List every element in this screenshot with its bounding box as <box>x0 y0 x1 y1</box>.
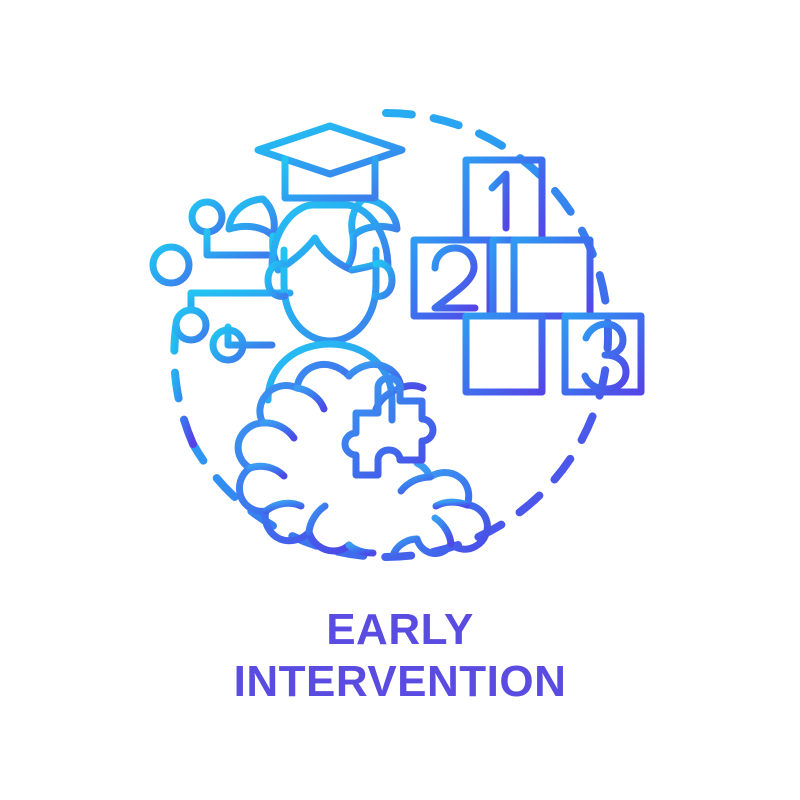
glyph-plus <box>480 330 528 378</box>
student-figure-icon <box>229 126 402 420</box>
page-title: EARLY INTERVENTION <box>0 604 800 708</box>
puzzle-piece-icon <box>345 378 452 475</box>
number-blocks-icon <box>414 160 641 392</box>
glyph-equals <box>531 266 575 292</box>
block-equals <box>514 240 590 316</box>
concept-icon-canvas: EARLY INTERVENTION <box>0 0 800 800</box>
title-line-1: EARLY <box>0 604 800 656</box>
glyph-two <box>435 248 475 308</box>
glyph-one <box>492 174 506 228</box>
title-line-2: INTERVENTION <box>0 656 800 708</box>
